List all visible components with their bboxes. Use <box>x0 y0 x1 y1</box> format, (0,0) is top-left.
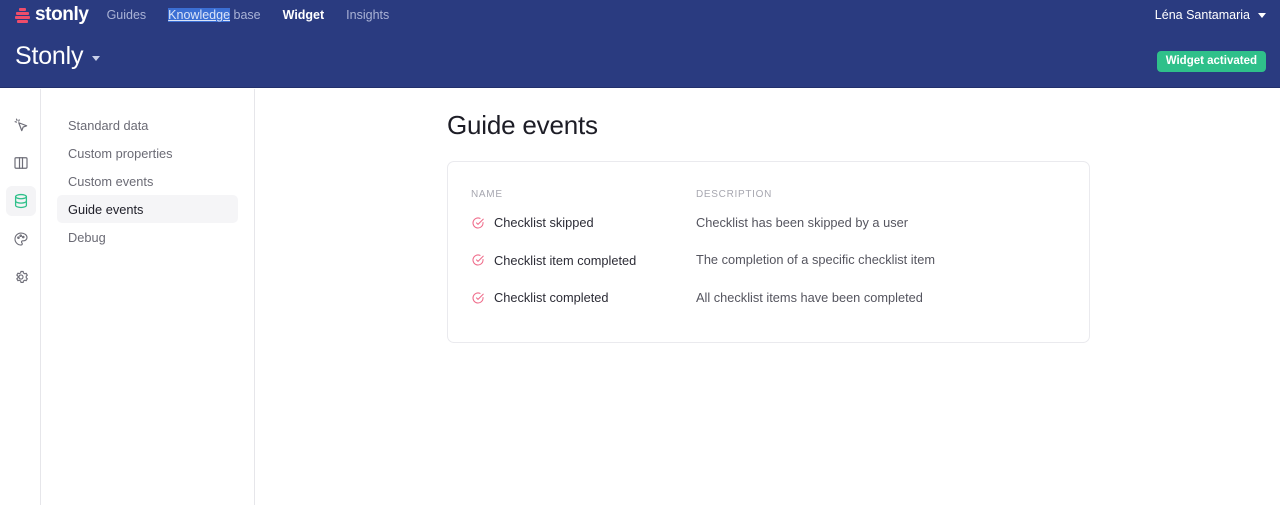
secondary-sidebar: Standard data Custom properties Custom e… <box>41 89 255 505</box>
page-title: Guide events <box>447 110 598 141</box>
check-circle-icon <box>471 216 485 230</box>
main-content: Guide events NAME DESCRIPTION Checklist … <box>256 89 1280 505</box>
sidebar-item-debug[interactable]: Debug <box>57 223 238 251</box>
table-row[interactable]: Checklist item completed The completion … <box>448 242 1089 280</box>
user-menu[interactable]: Léna Santamaria <box>1155 0 1266 30</box>
sidebar-item-guide-events[interactable]: Guide events <box>57 195 238 223</box>
sidebar-item-label: Debug <box>68 230 106 245</box>
sidebar-item-label: Custom properties <box>68 146 173 161</box>
chevron-down-icon <box>1258 13 1266 18</box>
card-footer-spacer <box>448 317 1089 342</box>
table-row[interactable]: Checklist skipped Checklist has been ski… <box>448 204 1089 242</box>
event-description: All checklist items have been completed <box>696 290 923 305</box>
palette-icon <box>12 230 30 248</box>
top-header: stonly Guides Knowledge base Widget Insi… <box>0 0 1280 88</box>
icon-rail <box>0 89 41 505</box>
gear-icon <box>12 268 30 286</box>
logo-text: stonly <box>35 4 89 26</box>
stonly-logo-mark-icon <box>15 8 30 23</box>
primary-nav: stonly Guides Knowledge base Widget Insi… <box>0 0 1280 30</box>
database-icon <box>12 192 30 210</box>
table-header-row: NAME DESCRIPTION <box>448 162 1089 204</box>
nav-item-knowledge-base[interactable]: Knowledge base <box>168 8 260 22</box>
caret-down-icon <box>92 56 100 61</box>
sidebar-item-label: Standard data <box>68 118 148 133</box>
cursor-click-icon <box>12 116 30 134</box>
rail-item-cursor-click[interactable] <box>0 106 41 143</box>
rail-item-settings[interactable] <box>0 258 41 295</box>
rail-item-database[interactable] <box>0 182 41 219</box>
column-header-name: NAME <box>471 189 503 200</box>
event-description: Checklist has been skipped by a user <box>696 215 908 230</box>
event-name: Checklist completed <box>494 290 609 305</box>
workspace-selector[interactable]: Stonly <box>15 42 100 71</box>
rail-item-palette[interactable] <box>0 220 41 257</box>
nav-item-widget[interactable]: Widget <box>283 8 325 22</box>
widget-activated-badge: Widget activated <box>1157 51 1266 72</box>
guide-events-card: NAME DESCRIPTION Checklist skipped Check… <box>447 161 1090 343</box>
sidebar-item-custom-events[interactable]: Custom events <box>57 167 238 195</box>
sidebar-item-label: Custom events <box>68 174 153 189</box>
event-description: The completion of a specific checklist i… <box>696 252 935 267</box>
nav-knowledge-rest-text: base <box>230 8 261 22</box>
table-row[interactable]: Checklist completed All checklist items … <box>448 279 1089 317</box>
column-header-description: DESCRIPTION <box>696 189 772 200</box>
sidebar-item-standard-data[interactable]: Standard data <box>57 111 238 139</box>
rail-item-columns-layout[interactable] <box>0 144 41 181</box>
columns-layout-icon <box>12 154 30 172</box>
stonly-logo[interactable]: stonly <box>15 4 89 26</box>
workspace-name: Stonly <box>15 42 83 71</box>
nav-knowledge-selected-text: Knowledge <box>168 8 230 22</box>
sidebar-item-custom-properties[interactable]: Custom properties <box>57 139 238 167</box>
check-circle-icon <box>471 291 485 305</box>
nav-links: Guides Knowledge base Widget Insights <box>107 8 390 22</box>
nav-item-insights[interactable]: Insights <box>346 8 389 22</box>
check-circle-icon <box>471 253 485 267</box>
user-name: Léna Santamaria <box>1155 8 1250 22</box>
event-name: Checklist skipped <box>494 215 594 230</box>
sidebar-item-label: Guide events <box>68 202 143 217</box>
nav-item-guides[interactable]: Guides <box>107 8 147 22</box>
event-name: Checklist item completed <box>494 253 636 268</box>
